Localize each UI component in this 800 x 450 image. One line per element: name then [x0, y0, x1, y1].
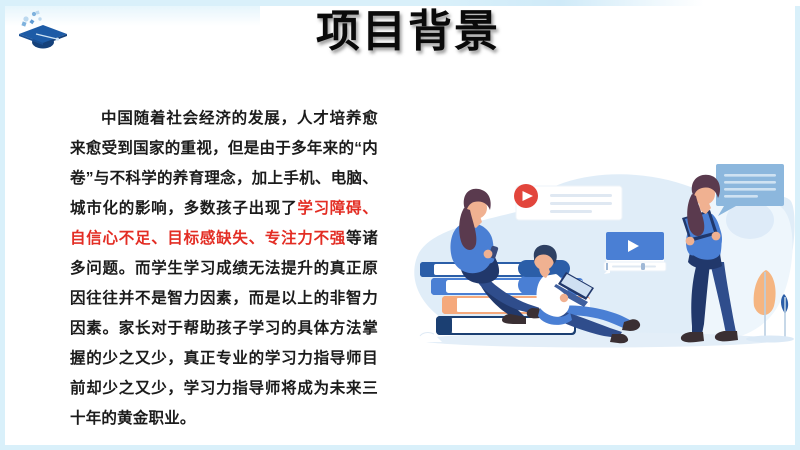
frame-edge-left [0, 0, 5, 450]
page-title: 项目背景 [316, 6, 500, 58]
frame-edge-bottom [0, 445, 800, 450]
online-learning-illustration [398, 148, 798, 370]
graduation-cap-icon [12, 8, 70, 58]
slide-canvas: 项目背景 中国随着社会经济的发展，人才培养愈来愈受到国家的重视，但是由于多年来的… [0, 0, 800, 450]
body-paragraph: 中国随着社会经济的发展，人才培养愈来愈受到国家的重视，但是由于多年来的“内卷”与… [70, 104, 378, 434]
paragraph-part-2: 等诸多问题。而学生学习成绩无法提升的真正原因往往并不是智力因素，而是以上的非智力… [70, 230, 378, 427]
